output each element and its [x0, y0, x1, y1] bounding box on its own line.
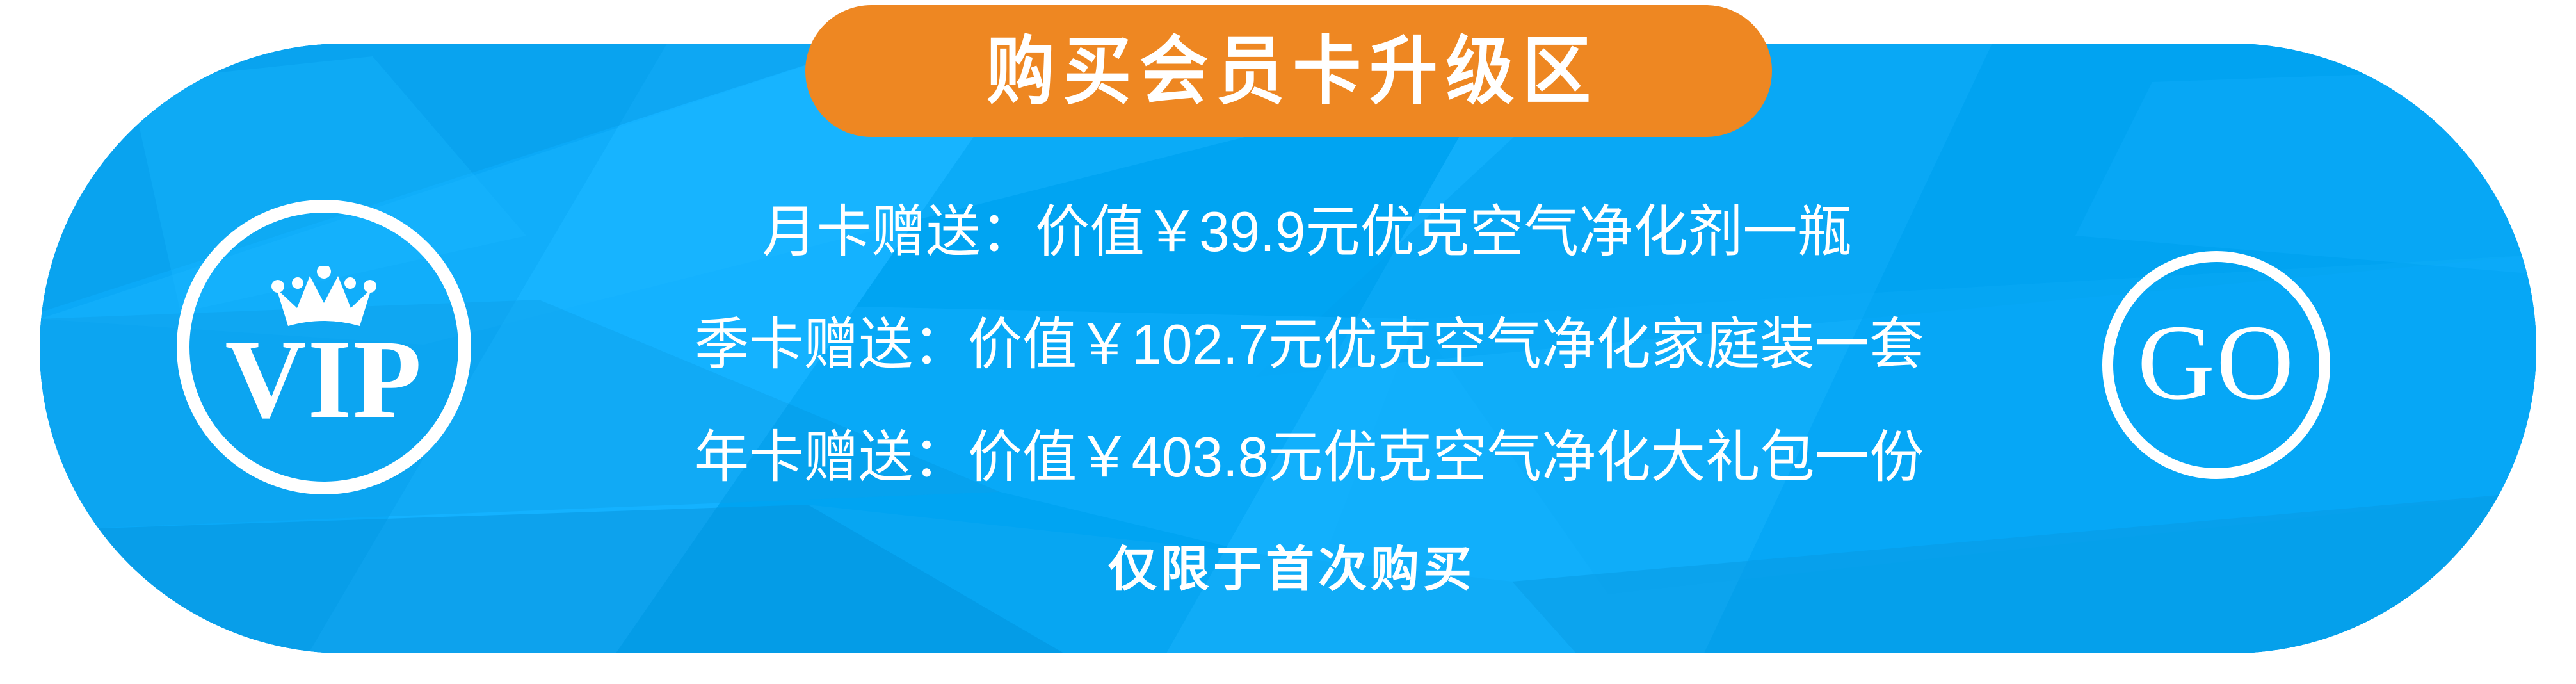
- go-button-label: GO: [2137, 309, 2296, 416]
- benefit-line-quarterly: 季卡赠送：价值￥102.7元优克空气净化家庭装一套: [695, 316, 1924, 373]
- go-button[interactable]: GO: [2102, 251, 2330, 479]
- title-pill: 购买会员卡升级区: [805, 5, 1772, 137]
- benefit-line-yearly: 年卡赠送：价值￥403.8元优克空气净化大礼包一份: [695, 429, 1924, 485]
- membership-upgrade-banner: VIP 购买会员卡升级区 月卡赠送：价值￥39.9元优克空气净化剂一瓶 季卡赠送…: [0, 0, 2576, 684]
- vip-badge-label: VIP: [225, 331, 423, 428]
- banner-title: 购买会员卡升级区: [978, 34, 1599, 108]
- benefits-list: 月卡赠送：价值￥39.9元优克空气净化剂一瓶 季卡赠送：价值￥102.7元优克空…: [563, 204, 2055, 509]
- footnote: 仅限于首次购买: [0, 546, 2576, 594]
- benefit-line-monthly: 月卡赠送：价值￥39.9元优克空气净化剂一瓶: [762, 204, 1853, 260]
- vip-badge: VIP: [177, 200, 471, 494]
